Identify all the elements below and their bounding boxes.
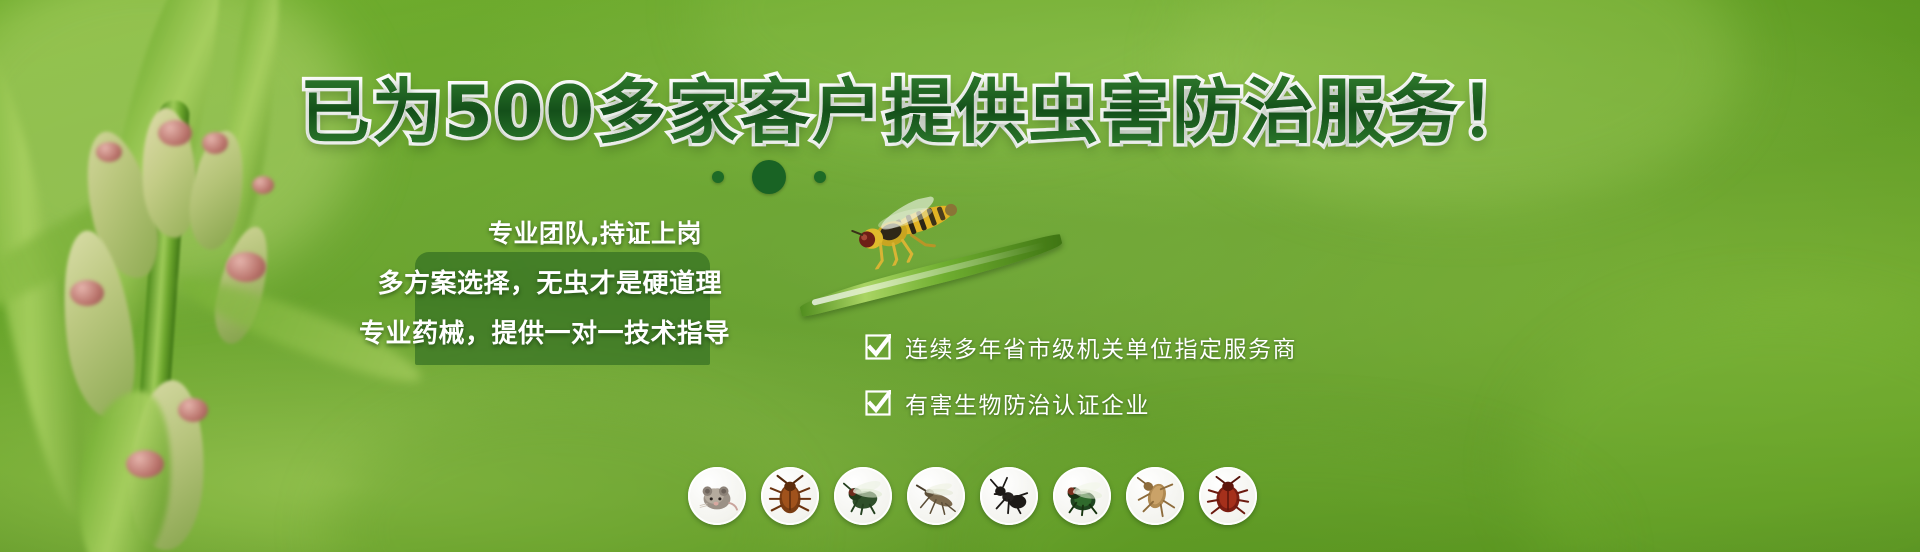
bud-tip [96,142,122,162]
selling-point-line-3: 专业药械，提供一对一技术指导 [359,313,730,350]
certification-checklist: 连续多年省市级机关单位指定服务商 有害生物防治认证企业 [865,330,1297,420]
bud-tip [70,280,104,306]
mosquito-icon[interactable] [907,467,965,525]
bud-tip [158,120,192,146]
checkbox-checked-icon [865,334,891,360]
pest-control-banner: 已为500多家客户提供虫害防治服务！ 已为500多家客户提供虫害防治服务！ 专业… [0,0,1920,552]
page-title: 已为500多家客户提供虫害防治服务！ [300,74,1532,151]
selling-points-text: 专业团队,持证上岗 多方案选择，无虫才是硬道理 专业药械，提供一对一技术指导 [340,214,730,350]
list-item-label: 有害生物防治认证企业 [905,386,1150,420]
list-item-label: 连续多年省市级机关单位指定服务商 [905,330,1297,364]
bud-tip [252,176,274,194]
bud-tip [202,132,228,154]
decorative-dots [712,160,826,194]
rat-icon[interactable] [688,467,746,525]
ant-icon[interactable] [980,467,1038,525]
housefly-icon[interactable] [1053,467,1111,525]
selling-point-line-1: 专业团队,持证上岗 [488,214,702,250]
small-dot-icon [814,171,826,183]
small-dot-icon [712,171,724,183]
bedbug-icon[interactable] [1199,467,1257,525]
fly-icon[interactable] [834,467,892,525]
bud-tip [126,450,164,478]
pest-icon-row [688,467,1257,525]
list-item: 有害生物防治认证企业 [865,386,1297,420]
cockroach-icon[interactable] [761,467,819,525]
bud-tip [178,398,208,422]
bud-tip [226,252,266,282]
checkbox-checked-icon [865,390,891,416]
list-item: 连续多年省市级机关单位指定服务商 [865,330,1297,364]
flea-icon[interactable] [1126,467,1184,525]
selling-point-line-2: 多方案选择，无虫才是硬道理 [377,263,722,300]
large-dot-icon [752,160,786,194]
